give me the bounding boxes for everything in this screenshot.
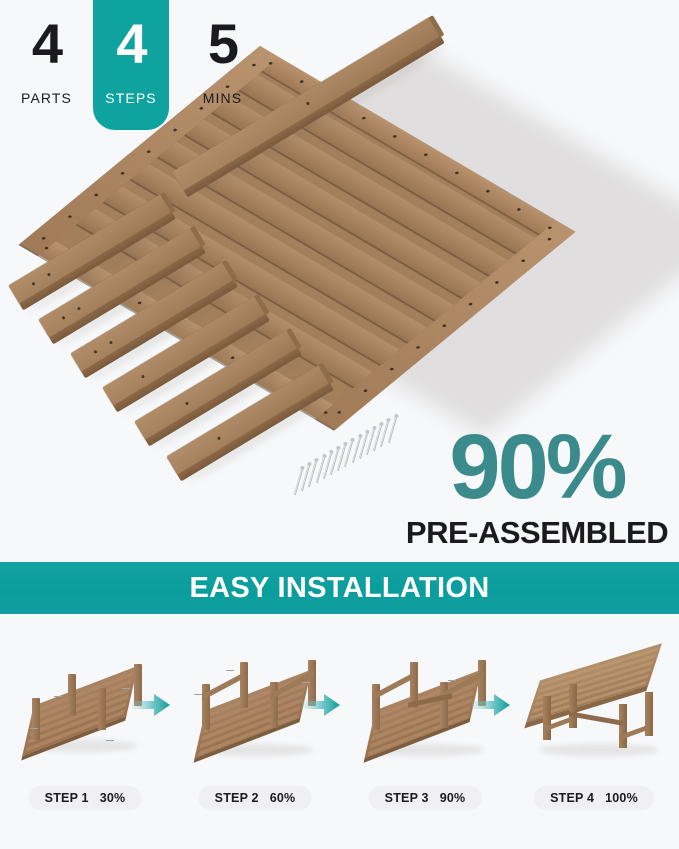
installation-steps-section: STEP 130%STEP 260%STEP 390%STEP 4100% bbox=[0, 614, 679, 849]
step-1-badge: STEP 130% bbox=[29, 786, 142, 810]
step-2-percent: 60% bbox=[270, 791, 296, 805]
stat-mins: 5 MINS bbox=[185, 0, 260, 130]
step-3-badge: STEP 390% bbox=[369, 786, 482, 810]
arrow-step3-to-step4-icon bbox=[472, 692, 510, 718]
pre-assembled-percent: 90% bbox=[404, 424, 670, 511]
arrow-step3-to-step4 bbox=[472, 692, 510, 718]
step-cell-2: STEP 260% bbox=[170, 626, 340, 846]
tabletop-panel-illustration bbox=[238, 26, 678, 406]
table-leg bbox=[543, 696, 551, 740]
step-4-name: STEP 4 bbox=[550, 791, 594, 805]
step-cell-1: STEP 130% bbox=[0, 626, 170, 846]
assembly-tick bbox=[106, 740, 114, 741]
stat-parts: 4 PARTS bbox=[9, 0, 84, 130]
assembly-tick bbox=[194, 694, 202, 695]
step-1-name: STEP 1 bbox=[45, 791, 89, 805]
arrow-step2-to-step3-icon bbox=[302, 692, 340, 718]
step-3-name: STEP 3 bbox=[385, 791, 429, 805]
step-cell-3: STEP 390% bbox=[340, 626, 510, 846]
assembly-tick bbox=[448, 680, 456, 681]
hero-section: 4 PARTS 4 STEPS 5 MINS 90% PRE-ASSEMBLED bbox=[0, 0, 679, 562]
assembly-tick bbox=[302, 682, 310, 683]
stats-strip: 4 PARTS 4 STEPS 5 MINS bbox=[0, 0, 260, 130]
arrow-step1-to-step2-icon bbox=[132, 692, 170, 718]
easy-installation-banner: EASY INSTALLATION bbox=[0, 562, 679, 614]
step-leg bbox=[32, 698, 40, 740]
step-4-percent: 100% bbox=[605, 791, 638, 805]
step-leg bbox=[68, 674, 76, 716]
step-2-name: STEP 2 bbox=[215, 791, 259, 805]
pre-assembled-callout: 90% PRE-ASSEMBLED bbox=[404, 424, 670, 551]
screws-group bbox=[296, 404, 406, 488]
step-leg bbox=[98, 688, 106, 730]
step-3-percent: 90% bbox=[440, 791, 466, 805]
stat-parts-label: PARTS bbox=[9, 90, 84, 106]
arrow-step2-to-step3 bbox=[302, 692, 340, 718]
step-4-badge: STEP 4100% bbox=[534, 786, 654, 810]
stat-mins-label: MINS bbox=[185, 90, 260, 106]
step-shadow bbox=[539, 744, 659, 756]
assembly-tick bbox=[54, 696, 62, 697]
arrow-step1-to-step2 bbox=[132, 692, 170, 718]
step-1-percent: 30% bbox=[100, 791, 126, 805]
step-cell-4: STEP 4100% bbox=[509, 626, 679, 846]
assembly-tick bbox=[122, 688, 130, 689]
assembly-tick bbox=[30, 728, 38, 729]
stat-mins-number: 5 bbox=[185, 16, 260, 72]
table-leg bbox=[619, 704, 627, 748]
pre-assembled-caption: PRE-ASSEMBLED bbox=[404, 515, 670, 551]
step-2-badge: STEP 260% bbox=[199, 786, 312, 810]
table-center-stretcher bbox=[569, 711, 623, 726]
stat-steps-label: STEPS bbox=[93, 90, 169, 106]
stat-steps-number: 4 bbox=[93, 16, 169, 72]
step-leg bbox=[240, 662, 248, 708]
stat-parts-number: 4 bbox=[9, 16, 84, 72]
stat-steps-badge: 4 STEPS bbox=[93, 0, 169, 130]
step-4-illustration bbox=[525, 636, 675, 766]
banner-title: EASY INSTALLATION bbox=[190, 572, 490, 605]
assembly-tick bbox=[226, 670, 234, 671]
